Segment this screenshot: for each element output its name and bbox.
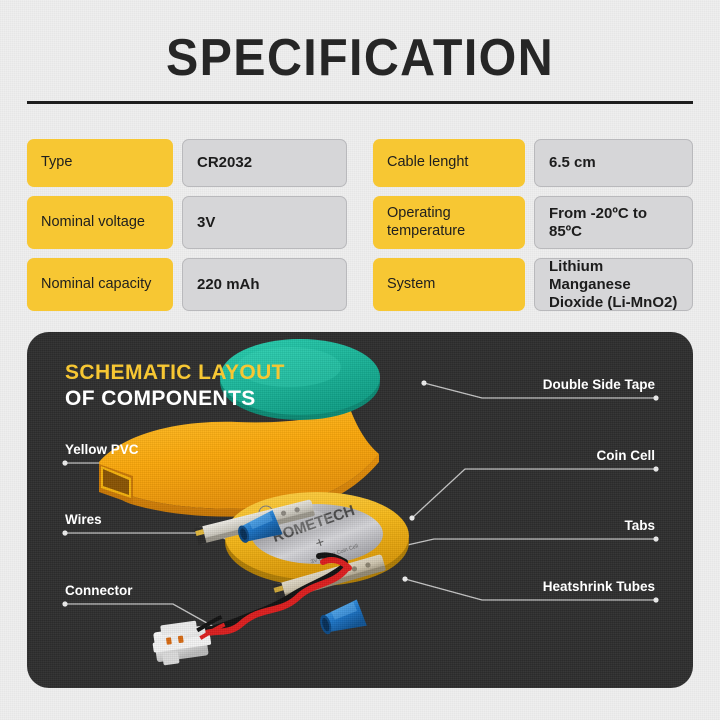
callout-label-double-side-tape: Double Side Tape xyxy=(543,377,655,392)
title-divider xyxy=(27,101,693,104)
spec-label: Type xyxy=(27,139,173,187)
spec-value: 3V xyxy=(182,196,347,249)
schematic-title: SCHEMATIC LAYOUT OF COMPONENTS xyxy=(65,360,285,411)
table-row: Operating temperature From -20ºC to 85ºC xyxy=(373,196,693,249)
callout-label-yellow-pvc: Yellow PVC xyxy=(65,442,139,457)
spec-label: Nominal capacity xyxy=(27,258,173,311)
table-row: Nominal voltage 3V xyxy=(27,196,347,249)
specification-page: SPECIFICATION Type CR2032 Nominal voltag… xyxy=(0,0,720,720)
spec-value: From -20ºC to 85ºC xyxy=(534,196,693,249)
spec-value: 6.5 cm xyxy=(534,139,693,187)
spec-value: CR2032 xyxy=(182,139,347,187)
callout-label-tabs: Tabs xyxy=(624,518,655,533)
callout-label-coin-cell: Coin Cell xyxy=(596,448,655,463)
page-title: SPECIFICATION xyxy=(25,28,695,88)
table-row: System Lithium Manganese Dioxide (Li-MnO… xyxy=(373,258,693,311)
spec-label: Nominal voltage xyxy=(27,196,173,249)
table-row: Nominal capacity 220 mAh xyxy=(27,258,347,311)
heatshrink-tube-lower-part xyxy=(317,599,367,639)
spec-value: Lithium Manganese Dioxide (Li-MnO2) xyxy=(534,258,693,311)
spec-label: System xyxy=(373,258,525,311)
spec-column-left: Type CR2032 Nominal voltage 3V Nominal c… xyxy=(27,139,347,320)
callout-label-connector: Connector xyxy=(65,583,133,598)
table-row: Type CR2032 xyxy=(27,139,347,187)
spec-value: 220 mAh xyxy=(182,258,347,311)
schematic-title-line2: OF COMPONENTS xyxy=(65,386,285,412)
spec-label: Cable lenght xyxy=(373,139,525,187)
table-row: Cable lenght 6.5 cm xyxy=(373,139,693,187)
spec-column-right: Cable lenght 6.5 cm Operating temperatur… xyxy=(373,139,693,320)
schematic-title-line1: SCHEMATIC LAYOUT xyxy=(65,360,285,386)
schematic-panel: ROMETECH + 3V Lithium Coin Cell xyxy=(27,332,693,688)
callout-label-heatshrink-tubes: Heatshrink Tubes xyxy=(543,579,655,594)
callout-label-wires: Wires xyxy=(65,512,102,527)
spec-label: Operating temperature xyxy=(373,196,525,249)
